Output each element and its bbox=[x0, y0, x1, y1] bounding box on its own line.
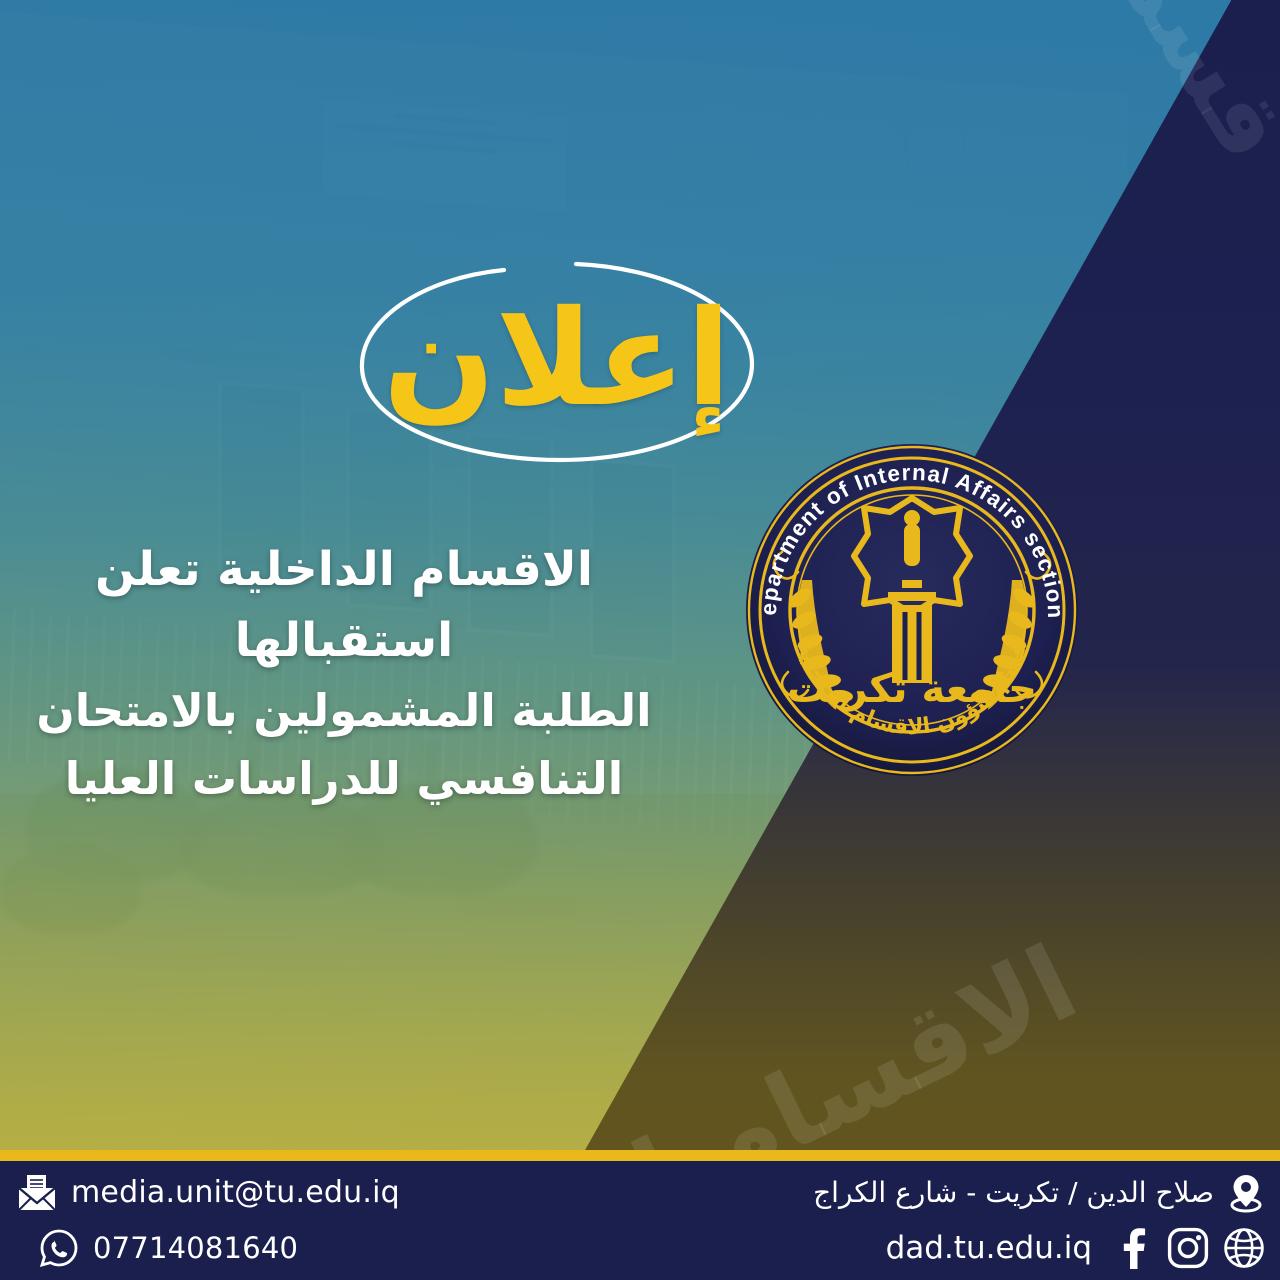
globe-icon[interactable] bbox=[1222, 1226, 1266, 1270]
address-row: صلاح الدين / تكريت - شارع الكراج bbox=[813, 1165, 1266, 1220]
instagram-icon[interactable] bbox=[1166, 1226, 1210, 1270]
phone-text: 07714081640 bbox=[93, 1231, 298, 1265]
headline-line-1: الاقسام الداخلية تعلن استقبالها bbox=[14, 534, 674, 677]
announcement-poster: قسم شؤون الاقسام الداخلية إعلان الاقسام … bbox=[0, 0, 1280, 1280]
university-emblem: Department of Internal Affairs sections … bbox=[742, 440, 1082, 780]
whatsapp-icon bbox=[38, 1227, 80, 1269]
email-text: media.unit@tu.edu.iq bbox=[71, 1175, 400, 1210]
facebook-icon[interactable] bbox=[1110, 1226, 1154, 1270]
contact-footer: media.unit@tu.edu.iq 07714081640 صلاح ال… bbox=[0, 1161, 1280, 1280]
yellow-divider-bar bbox=[0, 1150, 1280, 1161]
web-social-row: dad.tu.edu.iq bbox=[813, 1220, 1266, 1275]
envelope-icon bbox=[16, 1172, 58, 1214]
website-text[interactable]: dad.tu.edu.iq bbox=[886, 1230, 1092, 1266]
footer-contact-left: media.unit@tu.edu.iq 07714081640 bbox=[16, 1165, 400, 1275]
headline-line-3: التنافسي للدراسات العليا bbox=[14, 745, 674, 813]
footer-contact-right: صلاح الدين / تكريت - شارع الكراج dad.tu.… bbox=[813, 1165, 1266, 1275]
address-text: صلاح الدين / تكريت - شارع الكراج bbox=[813, 1176, 1214, 1209]
page-title: إعلان bbox=[352, 248, 762, 470]
social-icons bbox=[1110, 1226, 1266, 1270]
headline-line-2: الطلبة المشمولين بالامتحان bbox=[14, 677, 674, 745]
location-pin-icon bbox=[1226, 1172, 1266, 1214]
headline-block: الاقسام الداخلية تعلن استقبالها الطلبة ا… bbox=[14, 534, 674, 814]
whatsapp-row[interactable]: 07714081640 bbox=[16, 1220, 400, 1275]
email-row[interactable]: media.unit@tu.edu.iq bbox=[16, 1165, 400, 1220]
